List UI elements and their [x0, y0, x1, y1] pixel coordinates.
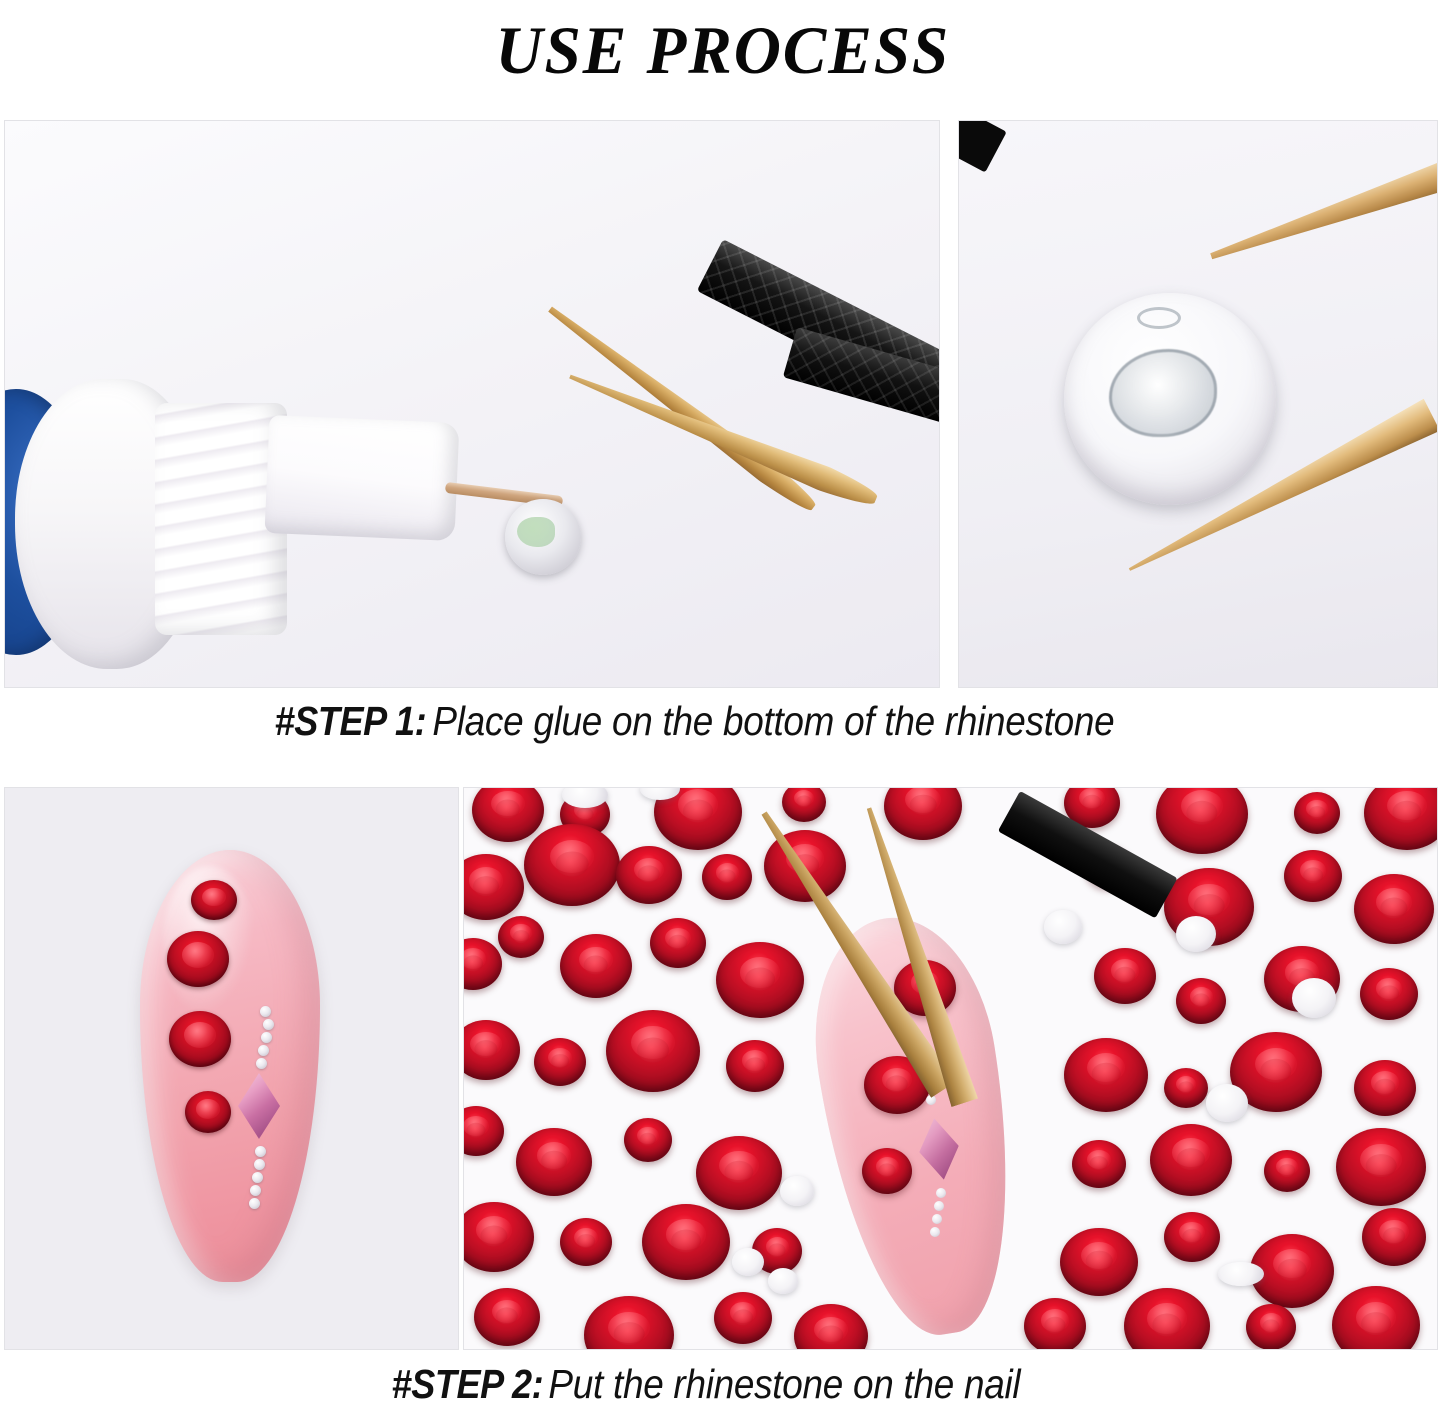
infographic-page: USE PROCESS #STEP 1:Place gl — [0, 0, 1445, 1412]
rhinestone — [716, 942, 804, 1018]
nail-red-gem-2 — [167, 931, 229, 987]
step-1-panel-row — [4, 120, 1438, 688]
step-2-label: #STEP 2: — [392, 1361, 544, 1408]
rhinestone — [1072, 1140, 1126, 1188]
glue-bubble — [1137, 307, 1181, 329]
page-title: USE PROCESS — [495, 11, 950, 90]
nail-pearl — [256, 1058, 267, 1069]
rhinestone — [606, 1010, 700, 1092]
step-2-caption: #STEP 2:Put the rhinestone on the nail — [0, 1361, 1445, 1408]
nail-pearl — [250, 1185, 261, 1196]
rhinestone — [714, 1292, 772, 1344]
rhinestone — [624, 1118, 672, 1162]
rhinestone — [1176, 978, 1226, 1024]
rhinestone — [1094, 948, 1156, 1004]
rhinestone — [726, 1040, 784, 1092]
rhinestone — [1164, 1212, 1220, 1262]
rhinestone — [534, 1038, 586, 1086]
rhinestone — [1264, 1150, 1310, 1192]
rhinestone — [1246, 1304, 1296, 1350]
rhinestone — [1354, 874, 1434, 944]
glue-bottle-and-tweezers-photo — [4, 120, 940, 688]
nail-pearl — [936, 1188, 946, 1198]
rhinestone-flat-back — [1176, 916, 1216, 952]
rhinestone-flat-back — [1206, 1084, 1248, 1122]
rhinestone — [1024, 1298, 1086, 1350]
rhinestone — [1294, 792, 1340, 834]
rhinestone — [1354, 1060, 1416, 1116]
rhinestone-flat-back — [768, 1268, 798, 1294]
nail-pearl — [249, 1198, 260, 1209]
rhinestone — [1336, 1128, 1426, 1206]
rhinestone — [560, 934, 632, 998]
rhinestone — [524, 824, 620, 906]
rhinestone-field-and-nail-photo — [463, 787, 1438, 1350]
rhinestone-flat-back — [1218, 1262, 1264, 1286]
nail-pearl — [261, 1032, 272, 1043]
rhinestone — [1150, 1124, 1232, 1196]
nail-pearl — [930, 1227, 940, 1237]
nail-pearl — [252, 1172, 263, 1183]
rhinestone-on-applicator — [505, 499, 581, 575]
rhinestone — [560, 1218, 612, 1266]
step-1-label: #STEP 1: — [275, 698, 427, 745]
nail-pearl — [255, 1146, 266, 1157]
page-title-bar: USE PROCESS — [0, 0, 1445, 100]
rhinestone — [696, 1136, 782, 1210]
nail-pearl — [263, 1019, 274, 1030]
nail-pearl — [260, 1006, 271, 1017]
rhinestone — [1284, 850, 1342, 902]
rhinestone — [642, 1204, 730, 1280]
rhinestone — [1064, 1038, 1148, 1112]
nail-red-gem-1 — [191, 880, 237, 920]
step-2-text: Put the rhinestone on the nail — [543, 1361, 1020, 1408]
step-1-caption: #STEP 1:Place glue on the bottom of the … — [0, 698, 1445, 745]
rhinestone — [616, 846, 682, 904]
rhinestone — [498, 916, 544, 958]
nail-pearl — [258, 1045, 269, 1056]
rhinestone — [474, 1288, 540, 1346]
nail-red-gem-3 — [169, 1011, 231, 1067]
rhinestone-flat-back — [732, 1248, 764, 1276]
rhinestone — [1362, 1208, 1426, 1266]
nail-pearl — [934, 1201, 944, 1211]
step-1-text: Place glue on the bottom of the rhinesto… — [427, 698, 1114, 745]
rhinestone — [764, 830, 846, 902]
rhinestone — [1360, 968, 1418, 1020]
nail-rhinestone — [862, 1148, 912, 1194]
nail-pearl — [932, 1214, 942, 1224]
decorated-nail-photo — [4, 787, 459, 1350]
step-2-panel-row — [4, 787, 1438, 1350]
rhinestone — [1060, 1228, 1138, 1296]
nail-pearl — [254, 1159, 265, 1170]
glue-bottle-tip — [265, 415, 460, 541]
rhinestone — [1164, 1068, 1208, 1108]
rhinestone-flat-back — [1044, 910, 1082, 944]
nail-red-gem-4 — [185, 1091, 231, 1133]
tweezers-holding-glued-rhinestone-photo — [958, 120, 1438, 688]
rhinestone-flat-back — [1292, 978, 1336, 1018]
rhinestone-flat-back — [780, 1176, 814, 1206]
rhinestone — [650, 918, 706, 968]
rhinestone — [702, 854, 752, 900]
rhinestone — [516, 1128, 592, 1196]
